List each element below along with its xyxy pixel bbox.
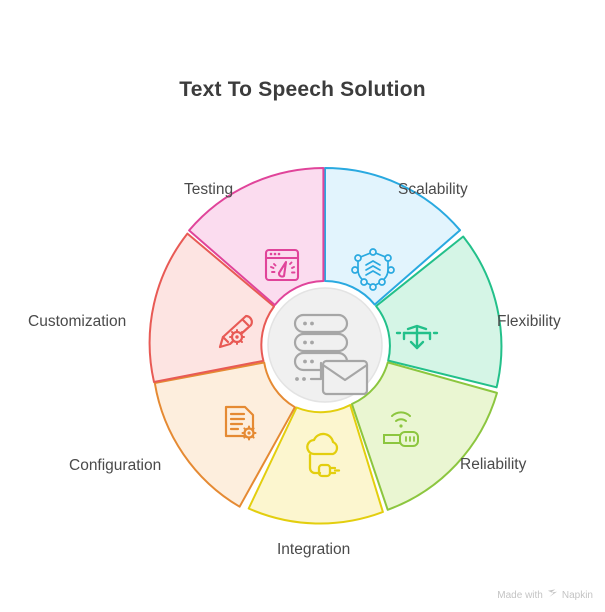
label-customization: Customization	[28, 313, 126, 331]
label-integration: Integration	[277, 541, 350, 559]
label-reliability: Reliability	[460, 456, 526, 474]
label-testing: Testing	[184, 181, 233, 199]
made-with-label: Made with	[497, 590, 543, 601]
radial-petal-diagram	[0, 0, 605, 612]
label-scalability: Scalability	[398, 181, 468, 199]
napkin-brand-label: Napkin	[562, 590, 593, 601]
napkin-logo-icon	[547, 588, 558, 602]
napkin-attribution: Made with Napkin	[497, 588, 593, 602]
label-configuration: Configuration	[69, 457, 161, 475]
label-flexibility: Flexibility	[497, 313, 561, 331]
center-hub[interactable]	[268, 288, 382, 402]
